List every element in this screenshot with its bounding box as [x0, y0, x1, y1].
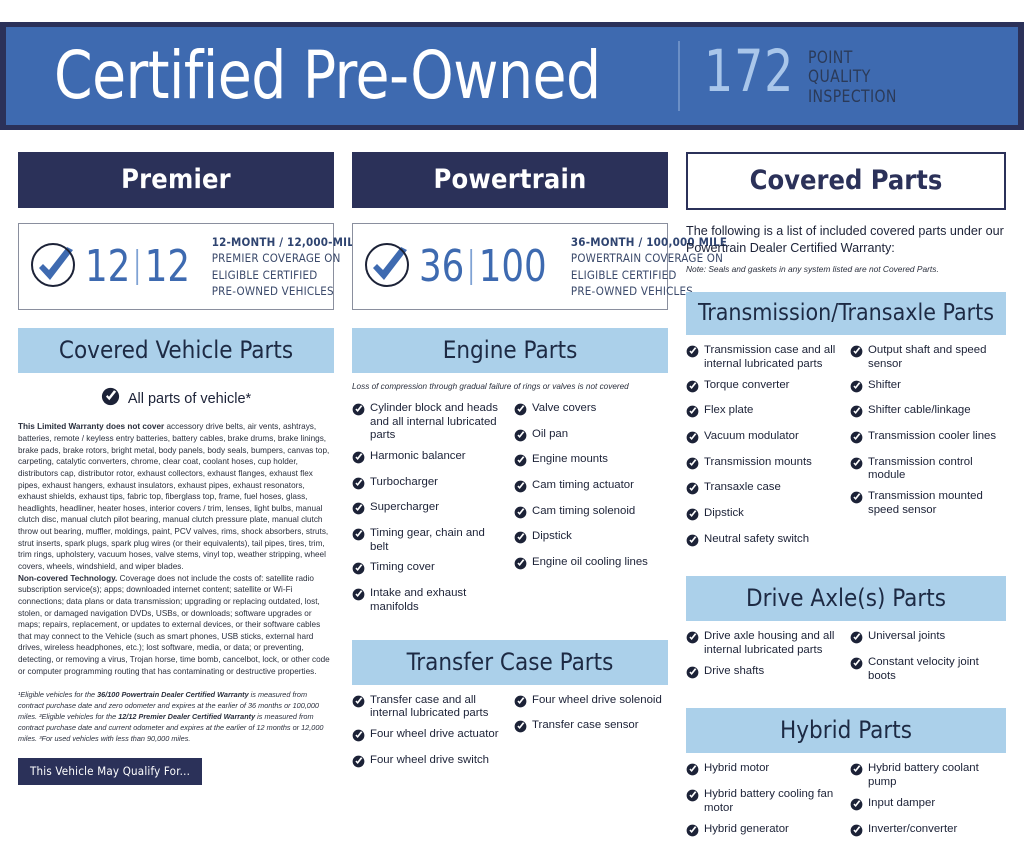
powertrain-badge-miles: 100 — [479, 245, 547, 289]
check-badge-icon — [850, 405, 863, 423]
list-item-label: Transmission mounted speed sensor — [868, 490, 1006, 517]
inspection-label-line2: QUALITY — [808, 68, 897, 87]
drive-axle-column-left: Drive axle housing and all internal lubr… — [686, 630, 842, 690]
list-item: Dipstick — [686, 507, 842, 526]
checkmark-circle-icon — [363, 241, 415, 293]
engine-parts-heading: Engine Parts — [352, 328, 668, 373]
list-item-label: Shifter — [868, 379, 901, 393]
check-badge-icon — [514, 454, 527, 472]
engine-parts-list: Cylinder block and heads and all interna… — [352, 402, 668, 622]
list-item-label: Engine mounts — [532, 453, 608, 467]
header-banner-frame: Certified Pre-Owned 172 POINT QUALITY IN… — [0, 22, 1024, 130]
tech-body: Coverage does not include the costs of: … — [18, 574, 330, 676]
hybrid-parts-heading: Hybrid Parts — [686, 708, 1006, 753]
engine-parts-column-right: Valve coversOil panEngine mountsCam timi… — [514, 402, 668, 622]
premier-coverage-badge: 12 12 12-MONTH / 12,000-MILE PREMIER COV… — [18, 223, 334, 310]
check-badge-icon — [352, 755, 365, 773]
list-item-label: Neutral safety switch — [704, 533, 809, 547]
list-item: Output shaft and speed sensor — [850, 344, 1006, 371]
premier-heading: Premier — [18, 152, 334, 208]
check-badge-icon — [686, 457, 699, 475]
list-item: Transmission cooler lines — [850, 430, 1006, 449]
list-item-label: Vacuum modulator — [704, 430, 799, 444]
list-item-label: Supercharger — [370, 501, 439, 515]
check-badge-icon — [686, 666, 699, 684]
list-item-label: Cam timing solenoid — [532, 505, 635, 519]
exclusions-lead: This Limited Warranty does not cover — [18, 422, 164, 431]
premier-badge-line3: ELIGIBLE CERTIFIED — [212, 267, 362, 283]
check-badge-icon — [850, 798, 863, 816]
list-item: Inverter/converter — [850, 823, 1006, 842]
covered-parts-note: Note: Seals and gaskets in any system li… — [686, 264, 1006, 274]
check-badge-icon — [352, 451, 365, 469]
premier-badge-numbers: 12 12 — [85, 245, 190, 289]
check-badge-icon — [686, 405, 699, 423]
check-badge-icon — [686, 631, 699, 649]
check-badge-icon — [352, 528, 365, 546]
list-item-label: Timing cover — [370, 561, 435, 575]
hybrid-column-right: Hybrid battery coolant pumpInput damperI… — [850, 762, 1006, 848]
list-item-label: Four wheel drive actuator — [370, 728, 499, 742]
covered-parts-intro: The following is a list of included cove… — [686, 223, 1006, 256]
inspection-label-line1: POINT — [808, 49, 897, 68]
premier-badge-line2: PREMIER COVERAGE ON — [212, 250, 362, 266]
list-item-label: Dipstick — [532, 530, 572, 544]
list-item: Transaxle case — [686, 481, 842, 500]
check-badge-icon — [101, 387, 120, 411]
premier-badge-description: 12-MONTH / 12,000-MILE PREMIER COVERAGE … — [212, 234, 362, 299]
check-badge-icon — [352, 729, 365, 747]
footnote-2a: ²Eligible vehicles for the — [39, 712, 118, 721]
list-item: Neutral safety switch — [686, 533, 842, 552]
drive-axle-column-right: Universal jointsConstant velocity joint … — [850, 630, 1006, 690]
list-item: Shifter — [850, 379, 1006, 398]
list-item-label: Transfer case and all internal lubricate… — [370, 694, 506, 721]
check-badge-icon — [686, 431, 699, 449]
check-badge-icon — [850, 457, 863, 475]
list-item-label: Four wheel drive switch — [370, 754, 489, 768]
list-item-label: Oil pan — [532, 428, 568, 442]
tech-lead: Non-covered Technology. — [18, 574, 117, 583]
footnote-1b: 36/100 Powertrain Dealer Certified Warra… — [97, 690, 249, 699]
list-item: Four wheel drive actuator — [352, 728, 506, 747]
list-item-label: Drive shafts — [704, 665, 764, 679]
check-badge-icon — [352, 588, 365, 606]
list-item-label: Transaxle case — [704, 481, 781, 495]
powertrain-badge-months: 36 — [419, 245, 464, 289]
list-item: Intake and exhaust manifolds — [352, 587, 506, 614]
list-item-label: Transmission mounts — [704, 456, 812, 470]
engine-parts-note: Loss of compression through gradual fail… — [352, 382, 668, 393]
list-item: Four wheel drive solenoid — [514, 694, 668, 713]
check-badge-icon — [850, 824, 863, 842]
list-item: Constant velocity joint boots — [850, 656, 1006, 683]
list-item: Flex plate — [686, 404, 842, 423]
premier-badge-line4: PRE-OWNED VEHICLES — [212, 283, 362, 299]
list-item: Torque converter — [686, 379, 842, 398]
list-item-label: Hybrid motor — [704, 762, 769, 776]
column-covered-parts: Covered Parts The following is a list of… — [686, 152, 1006, 848]
list-item-label: Hybrid battery coolant pump — [868, 762, 1006, 789]
premier-footnotes: ¹Eligible vehicles for the 36/100 Powert… — [18, 690, 334, 745]
list-item-label: Output shaft and speed sensor — [868, 344, 1006, 371]
column-powertrain: Powertrain 36 100 36-MONTH / 100,000 MIL… — [352, 152, 668, 848]
check-badge-icon — [686, 380, 699, 398]
list-item-label: Drive axle housing and all internal lubr… — [704, 630, 842, 657]
check-badge-icon — [850, 380, 863, 398]
badge-separator — [137, 249, 139, 285]
all-parts-of-vehicle-label: All parts of vehicle* — [128, 391, 251, 407]
list-item: Hybrid motor — [686, 762, 842, 781]
check-badge-icon — [352, 502, 365, 520]
check-badge-icon — [352, 477, 365, 495]
list-item: Four wheel drive switch — [352, 754, 506, 773]
covered-vehicle-parts-heading: Covered Vehicle Parts — [18, 328, 334, 373]
check-badge-icon — [514, 429, 527, 447]
powertrain-coverage-badge: 36 100 36-MONTH / 100,000 MILE POWERTRAI… — [352, 223, 668, 310]
list-item: Harmonic balancer — [352, 450, 506, 469]
drive-axle-parts-heading: Drive Axle(s) Parts — [686, 576, 1006, 621]
list-item-label: Input damper — [868, 797, 935, 811]
page-title: Certified Pre-Owned — [54, 43, 601, 109]
transmission-column-left: Transmission case and all internal lubri… — [686, 344, 842, 558]
list-item: Transmission mounted speed sensor — [850, 490, 1006, 517]
list-item-label: Transmission cooler lines — [868, 430, 996, 444]
list-item: Drive axle housing and all internal lubr… — [686, 630, 842, 657]
list-item-label: Hybrid battery cooling fan motor — [704, 788, 842, 815]
list-item-label: Transfer case sensor — [532, 719, 639, 733]
check-badge-icon — [686, 482, 699, 500]
check-badge-icon — [850, 657, 863, 675]
inspection-label-line3: INSPECTION — [808, 88, 897, 107]
check-badge-icon — [352, 403, 365, 421]
badge-separator — [471, 249, 473, 285]
banner-divider — [678, 41, 680, 111]
check-badge-icon — [850, 763, 863, 781]
list-item-label: Cam timing actuator — [532, 479, 634, 493]
transfer-case-parts-list: Transfer case and all internal lubricate… — [352, 694, 668, 780]
header-banner: Certified Pre-Owned 172 POINT QUALITY IN… — [6, 27, 1018, 125]
list-item: Turbocharger — [352, 476, 506, 495]
list-item-label: Turbocharger — [370, 476, 438, 490]
list-item: Input damper — [850, 797, 1006, 816]
transmission-parts-list: Transmission case and all internal lubri… — [686, 344, 1006, 558]
list-item: Engine mounts — [514, 453, 668, 472]
drive-axle-parts-list: Drive axle housing and all internal lubr… — [686, 630, 1006, 690]
list-item: Transmission control module — [850, 456, 1006, 483]
list-item: Supercharger — [352, 501, 506, 520]
premier-badge-months: 12 — [85, 245, 130, 289]
list-item-label: Transmission case and all internal lubri… — [704, 344, 842, 371]
inspection-point-count: 172 — [704, 45, 794, 98]
check-badge-icon — [352, 562, 365, 580]
check-badge-icon — [686, 508, 699, 526]
list-item: Engine oil cooling lines — [514, 556, 668, 575]
list-item-label: Harmonic balancer — [370, 450, 466, 464]
list-item: Hybrid battery coolant pump — [850, 762, 1006, 789]
check-badge-icon — [850, 431, 863, 449]
hybrid-parts-list: Hybrid motorHybrid battery cooling fan m… — [686, 762, 1006, 848]
check-badge-icon — [514, 506, 527, 524]
check-badge-icon — [850, 345, 863, 363]
powertrain-heading: Powertrain — [352, 152, 668, 208]
list-item-label: Constant velocity joint boots — [868, 656, 1006, 683]
footnote-2b: 12/12 Premier Dealer Certified Warranty — [118, 712, 255, 721]
check-badge-icon — [686, 789, 699, 807]
list-item-label: Valve covers — [532, 402, 596, 416]
check-badge-icon — [514, 720, 527, 738]
transmission-parts-heading: Transmission/Transaxle Parts — [686, 292, 1006, 335]
list-item: Valve covers — [514, 402, 668, 421]
list-item-label: Transmission control module — [868, 456, 1006, 483]
list-item-label: Universal joints — [868, 630, 945, 644]
list-item: Hybrid battery cooling fan motor — [686, 788, 842, 815]
inspection-badge: 172 POINT QUALITY INSPECTION — [704, 45, 905, 106]
premier-badge-miles: 12 — [145, 245, 190, 289]
footnote-3: ³For used vehicles with less than 90,000… — [39, 734, 190, 743]
covered-parts-heading: Covered Parts — [686, 152, 1006, 210]
list-item: Universal joints — [850, 630, 1006, 649]
footnote-1a: ¹Eligible vehicles for the — [18, 690, 97, 699]
check-badge-icon — [514, 557, 527, 575]
list-item: Transfer case and all internal lubricate… — [352, 694, 506, 721]
list-item: Timing gear, chain and belt — [352, 527, 506, 554]
list-item: Cam timing solenoid — [514, 505, 668, 524]
list-item-label: Timing gear, chain and belt — [370, 527, 506, 554]
list-item: Timing cover — [352, 561, 506, 580]
list-item-label: Torque converter — [704, 379, 789, 393]
checkmark-circle-icon — [29, 241, 81, 293]
check-badge-icon — [352, 695, 365, 713]
list-item-label: Hybrid generator — [704, 823, 789, 837]
column-premier: Premier 12 12 12-MONTH / 12,000-MILE PRE… — [18, 152, 334, 848]
list-item-label: Cylinder block and heads and all interna… — [370, 402, 506, 443]
list-item-label: Flex plate — [704, 404, 753, 418]
list-item-label: Shifter cable/linkage — [868, 404, 971, 418]
check-badge-icon — [686, 824, 699, 842]
transfer-case-column-right: Four wheel drive solenoidTransfer case s… — [514, 694, 668, 780]
exclusions-body: accessory drive belts, air vents, ashtra… — [18, 422, 329, 571]
list-item-label: Inverter/converter — [868, 823, 957, 837]
premier-badge-line1: 12-MONTH / 12,000-MILE — [212, 234, 362, 250]
transfer-case-parts-heading: Transfer Case Parts — [352, 640, 668, 685]
list-item-label: Intake and exhaust manifolds — [370, 587, 506, 614]
list-item: Transmission case and all internal lubri… — [686, 344, 842, 371]
inspection-label: POINT QUALITY INSPECTION — [808, 45, 897, 106]
list-item: Dipstick — [514, 530, 668, 549]
qualify-button[interactable]: This Vehicle May Qualify For... — [18, 758, 202, 785]
list-item: Transmission mounts — [686, 456, 842, 475]
list-item: Cam timing actuator — [514, 479, 668, 498]
check-badge-icon — [686, 345, 699, 363]
hybrid-column-left: Hybrid motorHybrid battery cooling fan m… — [686, 762, 842, 848]
list-item: Shifter cable/linkage — [850, 404, 1006, 423]
transmission-column-right: Output shaft and speed sensorShifterShif… — [850, 344, 1006, 558]
list-item: Cylinder block and heads and all interna… — [352, 402, 506, 443]
check-badge-icon — [514, 531, 527, 549]
check-badge-icon — [850, 491, 863, 509]
list-item: Oil pan — [514, 428, 668, 447]
check-badge-icon — [514, 695, 527, 713]
list-item-label: Engine oil cooling lines — [532, 556, 648, 570]
transfer-case-column-left: Transfer case and all internal lubricate… — [352, 694, 506, 780]
list-item: Hybrid generator — [686, 823, 842, 842]
check-badge-icon — [514, 403, 527, 421]
check-badge-icon — [686, 763, 699, 781]
content-columns: Premier 12 12 12-MONTH / 12,000-MILE PRE… — [0, 152, 1024, 848]
list-item-label: Four wheel drive solenoid — [532, 694, 662, 708]
list-item: Transfer case sensor — [514, 719, 668, 738]
premier-exclusions-text: This Limited Warranty does not cover acc… — [18, 421, 334, 677]
powertrain-badge-numbers: 36 100 — [419, 245, 547, 289]
all-parts-of-vehicle-row: All parts of vehicle* — [18, 387, 334, 411]
list-item: Vacuum modulator — [686, 430, 842, 449]
engine-parts-column-left: Cylinder block and heads and all interna… — [352, 402, 506, 622]
check-badge-icon — [514, 480, 527, 498]
list-item-label: Dipstick — [704, 507, 744, 521]
check-badge-icon — [850, 631, 863, 649]
check-badge-icon — [686, 534, 699, 552]
list-item: Drive shafts — [686, 665, 842, 684]
